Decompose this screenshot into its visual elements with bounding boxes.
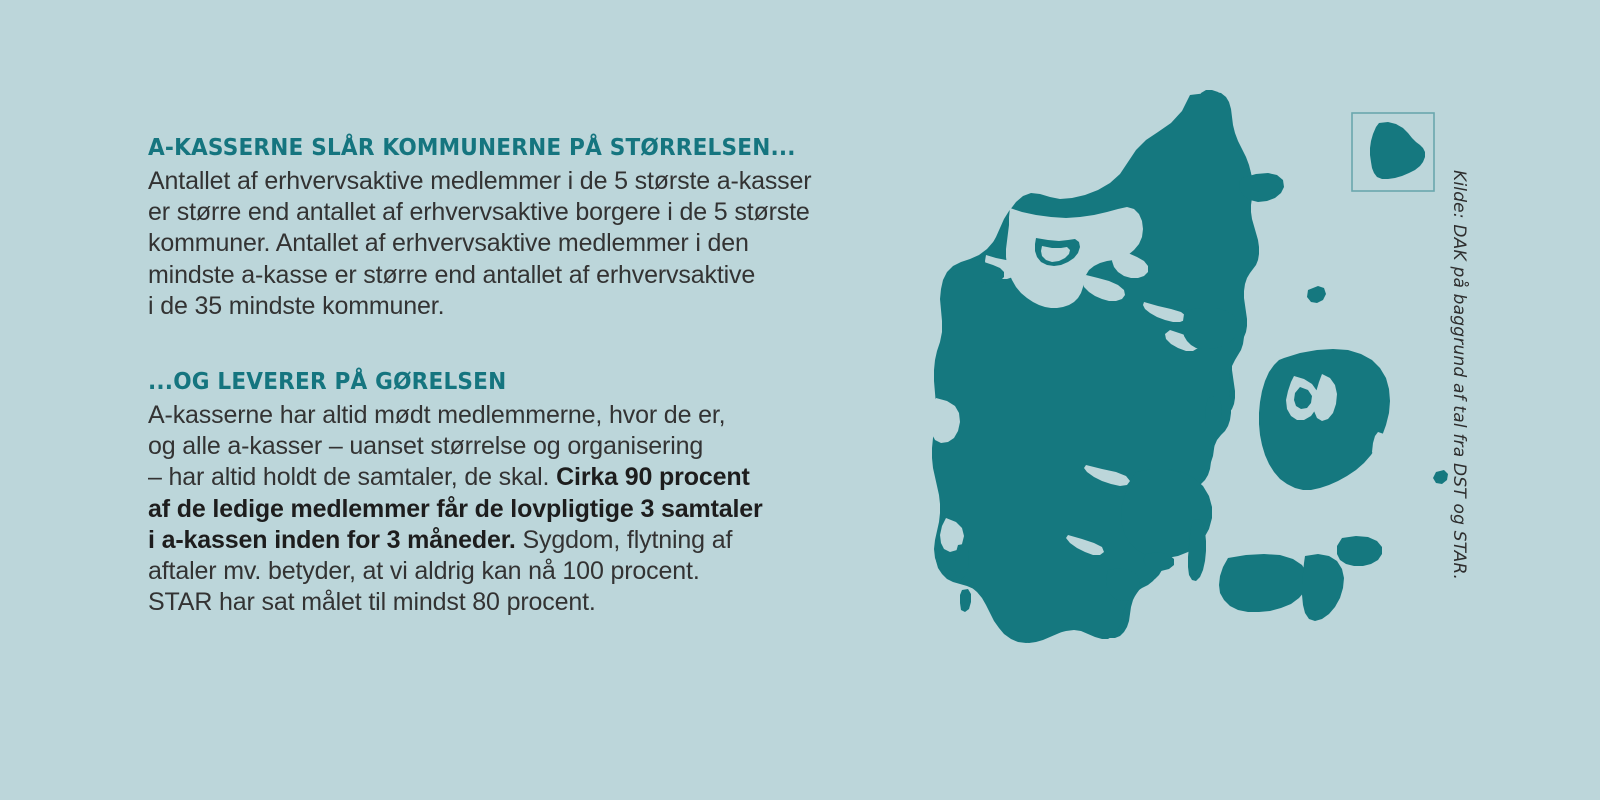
body-text: – har altid holdt de samtaler, de skal. (148, 463, 556, 491)
body-text-bold: Cirka 90 procent (556, 463, 750, 491)
koge-bugt-notch (1372, 432, 1395, 463)
map-land-shapes (932, 90, 1259, 643)
body-line: af de ledige medlemmer får de lovpligtig… (148, 494, 908, 525)
section-body-1: Antallet af erhvervsaktive medlemmer i d… (148, 166, 908, 322)
body-text: kommuner. Antallet af erhvervsaktive med… (148, 229, 749, 257)
body-text: og alle a-kasser – uanset størrelse og o… (148, 432, 703, 460)
body-line: STAR har sat målet til mindst 80 procent… (148, 587, 908, 618)
body-text: er større end antallet af erhvervsaktive… (148, 198, 810, 226)
bornholm-island (1370, 122, 1425, 179)
djursland-group (1183, 308, 1237, 349)
body-text: mindste a-kasse er større end antallet a… (148, 261, 755, 289)
body-text: i de 35 mindste kommuner. (148, 292, 444, 320)
text-column: A-KASSERNE SLÅR KOMMUNERNE PÅ STØRRELSEN… (148, 132, 908, 618)
body-line: i de 35 mindste kommuner. (148, 291, 908, 322)
body-line: og alle a-kasser – uanset størrelse og o… (148, 431, 908, 462)
mon-island (1337, 536, 1382, 566)
romo-island (960, 589, 971, 612)
body-text-bold: af de ledige medlemmer får de lovpligtig… (148, 495, 763, 523)
body-line: Antallet af erhvervsaktive medlemmer i d… (148, 166, 908, 197)
body-text: aftaler mv. betyder, at vi aldrig kan nå… (148, 557, 700, 585)
body-line: mindste a-kasse er større end antallet a… (148, 260, 908, 291)
jutland-body (932, 92, 1256, 643)
infographic-canvas: A-KASSERNE SLÅR KOMMUNERNE PÅ STØRRELSEN… (0, 0, 1600, 800)
section-divider-gap (148, 322, 908, 366)
djursland (1183, 308, 1237, 349)
denmark-map (890, 80, 1450, 700)
body-text: Sygdom, flytning af (516, 526, 733, 554)
body-line: kommuner. Antallet af erhvervsaktive med… (148, 228, 908, 259)
body-line: aftaler mv. betyder, at vi aldrig kan nå… (148, 556, 908, 587)
body-text: Antallet af erhvervsaktive medlemmer i d… (148, 167, 811, 195)
body-line: er større end antallet af erhvervsaktive… (148, 197, 908, 228)
body-text-bold: i a-kassen inden for 3 måneder. (148, 526, 516, 554)
section-heading-1: A-KASSERNE SLÅR KOMMUNERNE PÅ STØRRELSEN… (148, 132, 847, 162)
body-line: – har altid holdt de samtaler, de skal. … (148, 462, 908, 493)
body-text: STAR har sat målet til mindst 80 procent… (148, 588, 596, 616)
section-heading-2: ...OG LEVERER PÅ GØRELSEN (148, 366, 847, 396)
source-credit: Kilde: DAK på baggrund af tal fra DST og… (1444, 170, 1474, 630)
lolland-island (1219, 554, 1308, 612)
falster-island (1302, 554, 1344, 621)
section-body-2: A-kasserne har altid mødt medlemmerne, h… (148, 400, 908, 618)
body-text: A-kasserne har altid mødt medlemmerne, h… (148, 401, 725, 429)
body-line: i a-kassen inden for 3 måneder. Sygdom, … (148, 525, 908, 556)
anholt-island (1307, 286, 1326, 303)
body-line: A-kasserne har altid mødt medlemmerne, h… (148, 400, 908, 431)
bornholm-inset (1352, 113, 1434, 191)
